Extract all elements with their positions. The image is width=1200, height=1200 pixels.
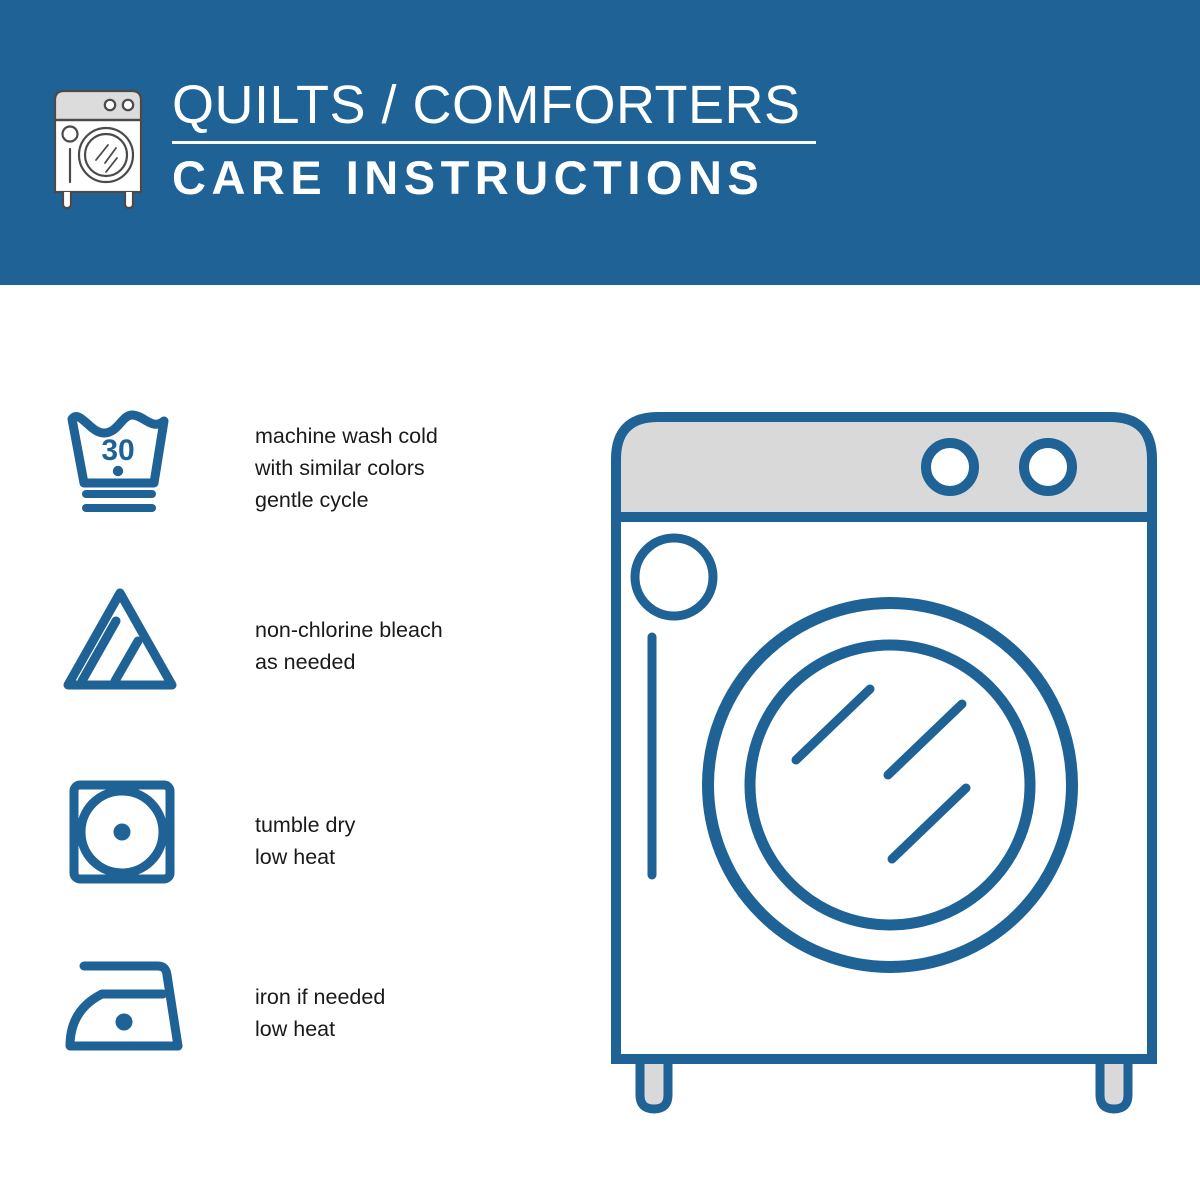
care-instruction-text: machine wash cold with similar colors ge…: [255, 421, 438, 516]
leg-left: [640, 1057, 668, 1109]
front-load-washing-machine-illustration: [600, 405, 1170, 1115]
wash-tub-30-gentle-icon: 30: [60, 405, 200, 515]
page-content: 30 machine wash cold with similar colors…: [0, 285, 1200, 1200]
care-instruction-text: non-chlorine bleach as needed: [255, 615, 443, 679]
care-instruction-item: tumble dry low heat: [60, 777, 530, 887]
care-instruction-item: non-chlorine bleach as needed: [60, 585, 530, 695]
knob-right: [1024, 443, 1072, 491]
title-divider: [172, 141, 816, 144]
page-title: QUILTS / COMFORTERS: [172, 78, 822, 133]
leg-right: [1100, 1057, 1128, 1109]
page-subtitle: CARE INSTRUCTIONS: [172, 154, 822, 202]
care-instruction-text: tumble dry low heat: [255, 810, 355, 874]
header-title-block: QUILTS / COMFORTERS CARE INSTRUCTIONS: [172, 78, 822, 202]
care-instruction-text: iron if needed low heat: [255, 982, 385, 1046]
care-instruction-item: iron if needed low heat: [60, 950, 530, 1060]
page-header: QUILTS / COMFORTERS CARE INSTRUCTIONS: [0, 0, 1200, 285]
header-content: QUILTS / COMFORTERS CARE INSTRUCTIONS: [48, 78, 822, 210]
washing-machine-icon: [48, 82, 154, 210]
iron-low-heat-icon: [60, 950, 200, 1060]
detergent-button: [635, 538, 713, 616]
non-chlorine-bleach-triangle-icon: [60, 585, 200, 695]
tumble-dry-low-heat-icon: [60, 777, 200, 887]
wash-temperature-label: 30: [101, 434, 134, 467]
care-instruction-item: 30 machine wash cold with similar colors…: [60, 405, 530, 516]
knob-left: [926, 443, 974, 491]
door-inner-ring: [750, 645, 1030, 925]
